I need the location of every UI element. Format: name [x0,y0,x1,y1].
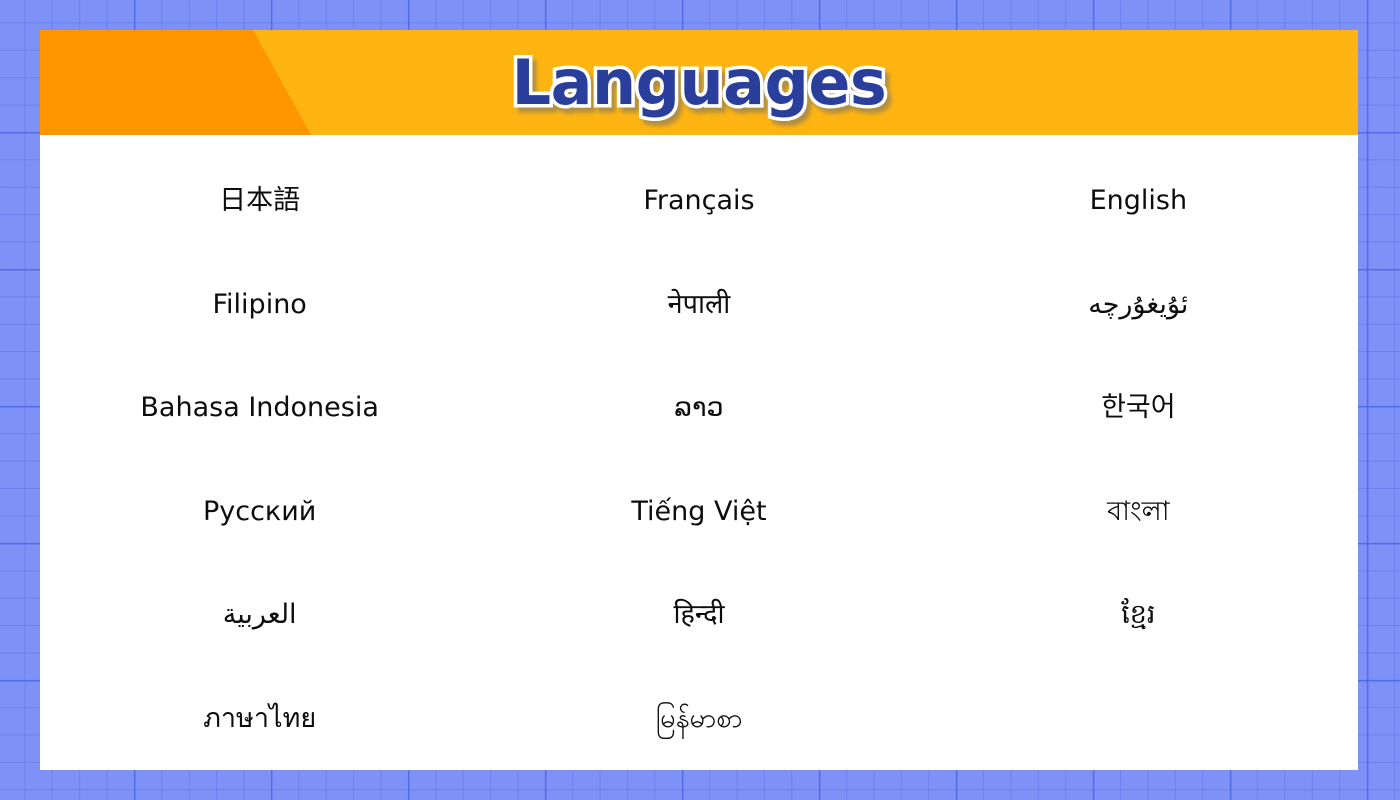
language-item[interactable]: ខ្មែរ [919,563,1358,667]
language-item[interactable]: 한국어 [919,356,1358,460]
language-item[interactable]: العربية [40,563,479,667]
language-item[interactable]: বাংলা [919,460,1358,564]
language-item[interactable]: Français [479,149,918,253]
language-item[interactable]: ئۇيغۇرچە [919,253,1358,357]
language-item[interactable]: English [919,149,1358,253]
language-item[interactable]: Bahasa Indonesia [40,356,479,460]
language-item[interactable]: Русский [40,460,479,564]
language-item[interactable]: हिन्दी [479,563,918,667]
language-item[interactable]: ภาษาไทย [40,667,479,771]
slide-card: Languages 日本語 Français English Filipino … [40,30,1358,770]
language-item[interactable]: ລາວ [479,356,918,460]
slide-background: Languages 日本語 Français English Filipino … [0,0,1400,800]
language-item[interactable]: 日本語 [40,149,479,253]
page-title: Languages [40,52,1358,114]
language-item[interactable]: မြန်မာစာ [479,667,918,771]
language-item[interactable]: Tiếng Việt [479,460,918,564]
language-item[interactable]: नेपाली [479,253,918,357]
language-grid: 日本語 Français English Filipino नेपाली ئۇي… [40,135,1358,770]
language-item[interactable]: Filipino [40,253,479,357]
title-banner: Languages [40,30,1358,135]
